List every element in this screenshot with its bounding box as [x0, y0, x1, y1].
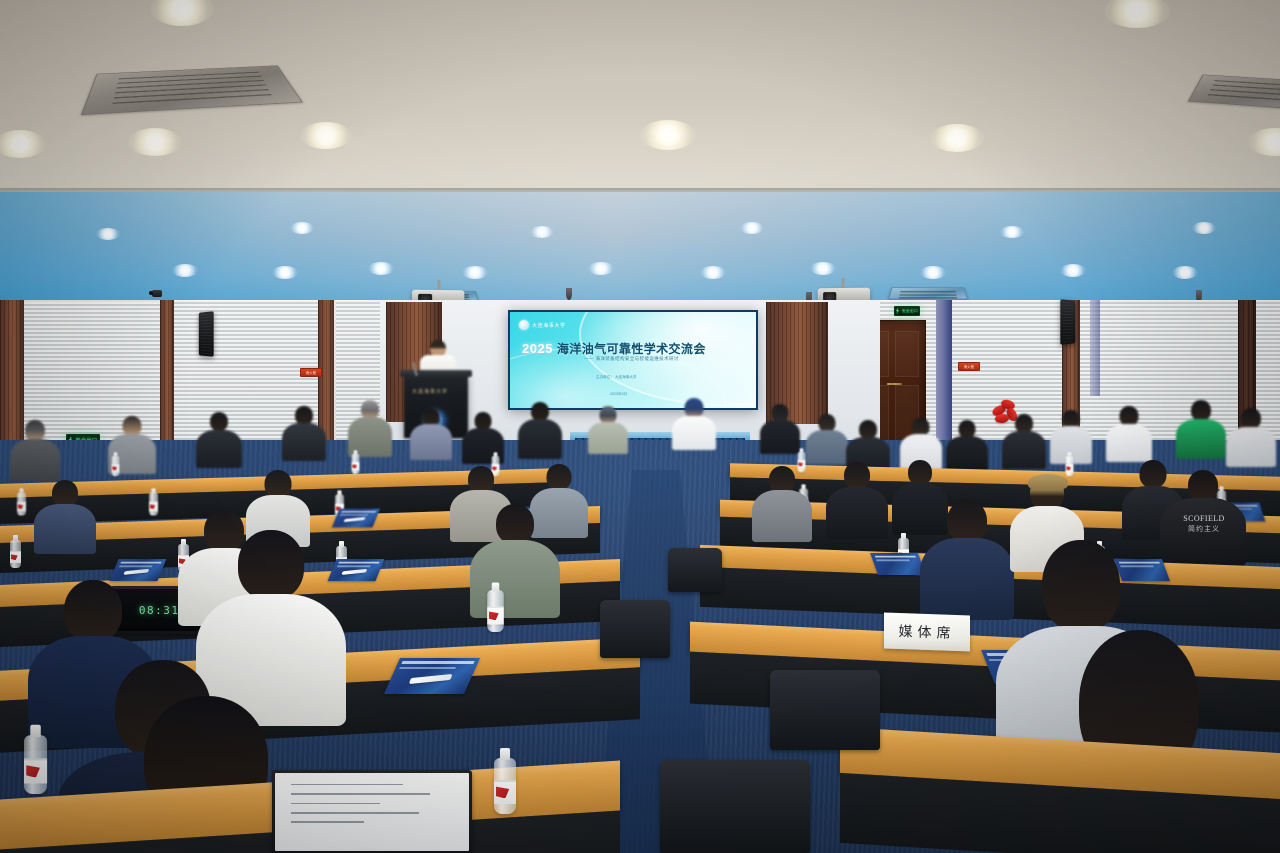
bottle-label	[149, 502, 158, 512]
screen-university-logo: 大连海事大学	[519, 320, 566, 330]
attendee-torso	[518, 419, 562, 459]
attendee-torso	[826, 487, 888, 539]
water-bottle[interactable]	[112, 456, 120, 476]
media-seat-nameplate: 媒体席	[884, 612, 970, 651]
attendee-torso	[410, 424, 452, 460]
bottle-label	[487, 607, 504, 625]
bottle-label	[24, 759, 47, 784]
media-seat-label: 媒体席	[899, 621, 956, 643]
meeting-chair[interactable]	[660, 760, 810, 853]
meeting-chair[interactable]	[600, 600, 670, 658]
conference-pen[interactable]	[409, 674, 453, 684]
attendee-torso	[752, 490, 812, 542]
attendee	[410, 408, 452, 458]
attendee-head	[685, 398, 704, 418]
document-text-line	[291, 803, 380, 805]
attendee-head	[25, 420, 45, 441]
attendee	[588, 406, 628, 452]
bottle-label	[352, 462, 360, 470]
water-bottle[interactable]	[352, 454, 360, 474]
conference-folder[interactable]	[384, 658, 480, 694]
fire-hydrant-sign: 消火栓	[958, 362, 980, 371]
screen-subtitle: —— 海洋装备结构安全与智能运维技术研讨	[584, 356, 679, 362]
podium-top	[400, 370, 472, 377]
water-bottle[interactable]	[17, 493, 26, 516]
document-text-line	[291, 784, 404, 786]
folder-title-line	[401, 661, 474, 664]
conference-folder[interactable]	[110, 559, 167, 581]
attendee-torso	[34, 504, 96, 554]
attendee-torso	[946, 436, 988, 472]
fire-hydrant-label: 消火栓	[964, 364, 975, 369]
wall-speaker	[1060, 299, 1075, 345]
meeting-chair[interactable]	[668, 548, 722, 592]
attendee-head	[210, 412, 228, 431]
attendee-torso	[282, 423, 326, 461]
door-panel	[895, 331, 919, 377]
shirt-back-print-mid: 简约主义	[1172, 524, 1236, 534]
attendee	[470, 504, 560, 612]
attendee-head	[64, 580, 122, 642]
folder-title-line	[120, 562, 161, 564]
conference-hall-photo: 安全出口 安全出口 消火栓 消火栓 大连海事大学 2025 海洋油气可	[0, 0, 1280, 853]
attendee	[518, 402, 562, 456]
attendee	[1226, 408, 1276, 466]
bottle-label	[1066, 464, 1074, 472]
attendee-torso	[1226, 427, 1276, 467]
bottle-label	[17, 502, 26, 512]
exit-sign: 安全出口	[894, 306, 920, 316]
screen-title-block: 2025 海洋油气可靠性学术交流会	[522, 340, 750, 357]
attendee	[34, 480, 96, 550]
attendee-torso	[1002, 431, 1046, 469]
folder-subtitle-line	[340, 514, 369, 515]
attendee	[282, 406, 326, 458]
desk-modesty-panel	[840, 773, 1280, 853]
ceiling-air-vent	[888, 287, 968, 299]
attendee-head	[496, 504, 534, 544]
podium-nameplate: 大连海事大学	[412, 388, 448, 395]
attendee	[10, 420, 60, 478]
bottle-label	[494, 780, 516, 804]
attendee-head	[1188, 470, 1218, 501]
attendee-head	[908, 460, 932, 485]
attendee	[760, 404, 800, 452]
attendee-head	[468, 466, 494, 493]
screen-meta-line-1: 主办单位： 大连海事大学	[596, 374, 637, 381]
water-bottle[interactable]	[1066, 456, 1074, 476]
attendee-torso	[470, 540, 560, 618]
security-camera	[152, 290, 162, 297]
university-seal-icon	[519, 320, 529, 330]
attendee-head	[265, 470, 292, 498]
water-bottle[interactable]	[10, 540, 21, 568]
attendee-torso	[10, 439, 60, 481]
screen-university-name: 大连海事大学	[532, 322, 566, 329]
attendee-torso	[760, 420, 800, 454]
water-bottle[interactable]	[149, 493, 158, 516]
attendee-torso	[588, 422, 628, 454]
screen-main-title: 海洋油气可靠性学术交流会	[557, 340, 706, 357]
screen-year: 2025	[522, 341, 553, 356]
document-text-line	[291, 821, 365, 823]
conference-folder[interactable]	[870, 553, 926, 575]
fire-hydrant-label: 消火栓	[306, 370, 317, 375]
folder-subtitle-line	[876, 559, 910, 560]
attendee	[752, 466, 812, 538]
attendee-torso	[196, 430, 242, 468]
wall-speaker	[199, 311, 214, 357]
attendee	[672, 398, 716, 448]
attendee-head	[844, 462, 870, 489]
document-text-line	[291, 793, 431, 795]
attendee-with-logo-shirt: SCOFIELD 简约主义	[1160, 470, 1246, 562]
conference-pen[interactable]	[344, 517, 366, 522]
folder-title-line	[341, 511, 376, 513]
attendee-head	[1120, 406, 1139, 426]
water-bottle[interactable]	[494, 758, 516, 814]
attendee-torso	[806, 430, 848, 464]
folder-subtitle-line	[119, 565, 153, 566]
attendee-head	[123, 416, 142, 436]
meeting-chair[interactable]	[770, 670, 880, 750]
attendee-head	[238, 530, 304, 600]
folder-title-line	[875, 556, 916, 558]
attendee-head	[547, 464, 572, 490]
attendee	[1106, 406, 1152, 460]
water-bottle[interactable]	[24, 735, 47, 794]
attendee-torso	[1176, 419, 1226, 459]
bottle-label	[10, 551, 21, 563]
desk-laptop[interactable]	[272, 770, 472, 853]
attendee-torso	[1106, 424, 1152, 462]
wall-pilaster	[1090, 300, 1100, 396]
shirt-back-print-top: SCOFIELD	[1172, 514, 1236, 523]
projection-screen: 大连海事大学 2025 海洋油气可靠性学术交流会 —— 海洋装备结构安全与智能运…	[510, 312, 756, 408]
attendee-head	[1191, 400, 1211, 421]
conference-folder[interactable]	[332, 509, 380, 528]
conference-pen[interactable]	[123, 569, 149, 575]
projection-screen-frame: 大连海事大学 2025 海洋油气可靠性学术交流会 —— 海洋装备结构安全与智能运…	[508, 310, 758, 410]
attendee	[826, 462, 888, 536]
ceiling-sprinkler	[566, 288, 572, 300]
attendee-head	[1042, 540, 1120, 632]
attendee	[1002, 414, 1046, 466]
running-man-icon	[896, 308, 900, 314]
attendee-head	[769, 466, 795, 493]
attendee	[462, 412, 504, 462]
attendee	[196, 412, 242, 466]
attendee	[348, 400, 392, 454]
water-bottle[interactable]	[487, 590, 504, 632]
bottle-label	[112, 464, 120, 472]
attendee-head	[947, 500, 987, 542]
ceiling-lower-cove	[0, 192, 1280, 304]
attendee-head	[1241, 408, 1261, 429]
document-text-line	[291, 812, 419, 814]
attendee	[1176, 400, 1226, 458]
screen-date-line: 2025年9月	[610, 392, 627, 397]
attendee	[806, 414, 848, 462]
folder-subtitle-line	[399, 667, 456, 669]
fire-hydrant-sign: 消火栓	[300, 368, 322, 377]
attendee	[946, 420, 988, 470]
baseball-cap-icon	[1028, 474, 1068, 490]
exit-sign-label: 安全出口	[902, 309, 918, 314]
laptop-screen	[275, 773, 469, 851]
attendee-head	[52, 480, 78, 507]
attendee-torso	[672, 416, 716, 450]
door-handle[interactable]	[893, 383, 902, 385]
